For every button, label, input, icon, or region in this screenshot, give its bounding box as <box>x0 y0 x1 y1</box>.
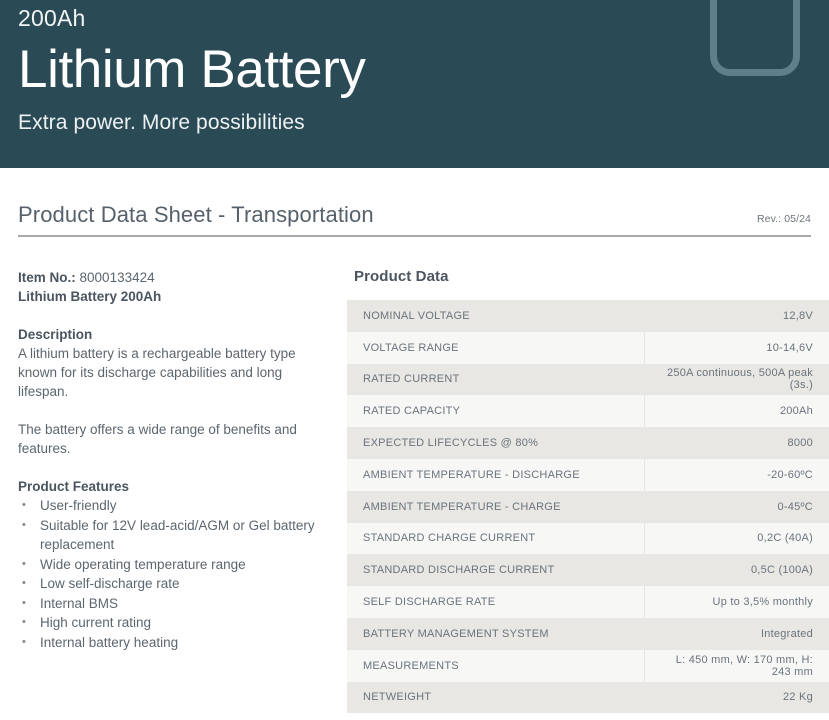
spec-key: SELF DISCHARGE RATE <box>347 586 644 618</box>
spec-value: 200Ah <box>644 395 829 427</box>
description-paragraph-2: The battery offers a wide range of benef… <box>18 420 328 458</box>
item-number-value: 8000133424 <box>80 270 155 285</box>
list-item: Internal BMS <box>18 594 328 614</box>
table-row: EXPECTED LIFECYCLES @ 80%8000 <box>347 427 829 459</box>
table-row: AMBIENT TEMPERATURE - CHARGE0-45ºC <box>347 491 829 523</box>
product-data-table: NOMINAL VOLTAGE12,8V VOLTAGE RANGE10-14,… <box>347 300 829 713</box>
features-heading: Product Features <box>18 477 328 496</box>
spec-key: VOLTAGE RANGE <box>347 332 644 364</box>
table-row: STANDARD DISCHARGE CURRENT0,5C (100A) <box>347 554 829 586</box>
product-name: Lithium Battery 200Ah <box>18 287 328 306</box>
spec-value: 22 Kg <box>644 682 829 714</box>
list-item: Suitable for 12V lead-acid/AGM or Gel ba… <box>18 516 328 555</box>
revision-label: Rev.: 05/24 <box>757 213 811 225</box>
table-row: NOMINAL VOLTAGE12,8V <box>347 300 829 332</box>
spec-key: EXPECTED LIFECYCLES @ 80% <box>347 427 644 459</box>
spec-value: Integrated <box>644 618 829 650</box>
list-item: User-friendly <box>18 496 328 516</box>
spec-key: BATTERY MANAGEMENT SYSTEM <box>347 618 644 650</box>
spec-key: AMBIENT TEMPERATURE - DISCHARGE <box>347 459 644 491</box>
table-row: STANDARD CHARGE CURRENT0,2C (40A) <box>347 523 829 555</box>
product-features-list: User-friendly Suitable for 12V lead-acid… <box>18 496 328 652</box>
table-row: SELF DISCHARGE RATEUp to 3,5% monthly <box>347 586 829 618</box>
spacer <box>18 306 328 325</box>
spec-key: STANDARD CHARGE CURRENT <box>347 523 644 555</box>
item-number-label: Item No.: <box>18 270 76 285</box>
spec-key: NETWEIGHT <box>347 682 644 714</box>
spec-value: Up to 3,5% monthly <box>644 586 829 618</box>
table-row: BATTERY MANAGEMENT SYSTEMIntegrated <box>347 618 829 650</box>
spec-value: 0,5C (100A) <box>644 554 829 586</box>
hero-text-block: 200Ah Lithium Battery Extra power. More … <box>18 0 365 137</box>
list-item: Low self-discharge rate <box>18 574 328 594</box>
table-row: AMBIENT TEMPERATURE - DISCHARGE-20-60ºC <box>347 459 829 491</box>
spec-value: 10-14,6V <box>644 332 829 364</box>
spec-key: AMBIENT TEMPERATURE - CHARGE <box>347 491 644 523</box>
spec-key: NOMINAL VOLTAGE <box>347 300 644 332</box>
spec-value: -20-60ºC <box>644 459 829 491</box>
spec-value: L: 450 mm, W: 170 mm, H: 243 mm <box>644 650 829 682</box>
spec-key: STANDARD DISCHARGE CURRENT <box>347 554 644 586</box>
description-paragraph-1: A lithium battery is a rechargeable batt… <box>18 344 328 401</box>
list-item: Internal battery heating <box>18 633 328 653</box>
table-row: RATED CURRENT250A continuous, 500A peak … <box>347 364 829 396</box>
spec-value: 8000 <box>644 427 829 459</box>
description-heading: Description <box>18 325 328 344</box>
table-row: MEASUREMENTSL: 450 mm, W: 170 mm, H: 243… <box>347 650 829 682</box>
product-data-heading: Product Data <box>354 268 829 285</box>
spec-value: 0-45ºC <box>644 491 829 523</box>
hero-tagline: Extra power. More possibilities <box>18 109 365 137</box>
spacer <box>18 458 328 477</box>
table-row: VOLTAGE RANGE10-14,6V <box>347 332 829 364</box>
product-data-column: Product Data NOMINAL VOLTAGE12,8V VOLTAG… <box>347 268 829 713</box>
list-item: High current rating <box>18 613 328 633</box>
product-data-table-body: NOMINAL VOLTAGE12,8V VOLTAGE RANGE10-14,… <box>347 300 829 713</box>
battery-outline-icon <box>710 0 800 76</box>
title-divider <box>18 235 811 237</box>
hero-banner: 200Ah Lithium Battery Extra power. More … <box>0 0 829 168</box>
sheet-title-row: Product Data Sheet - Transportation Rev.… <box>18 202 811 228</box>
table-row: RATED CAPACITY200Ah <box>347 395 829 427</box>
left-info-column: Item No.: 8000133424 Lithium Battery 200… <box>18 268 328 652</box>
item-number-line: Item No.: 8000133424 <box>18 268 328 287</box>
table-row: NETWEIGHT22 Kg <box>347 682 829 714</box>
spec-value: 0,2C (40A) <box>644 523 829 555</box>
spec-key: RATED CAPACITY <box>347 395 644 427</box>
hero-capacity-eyebrow: 200Ah <box>18 3 365 33</box>
page-title: Product Data Sheet - Transportation <box>18 202 374 228</box>
list-item: Wide operating temperature range <box>18 555 328 575</box>
spec-key: MEASUREMENTS <box>347 650 644 682</box>
spec-value: 12,8V <box>644 300 829 332</box>
hero-product-title: Lithium Battery <box>18 40 365 100</box>
spec-key: RATED CURRENT <box>347 364 644 396</box>
spacer <box>18 401 328 420</box>
spec-value: 250A continuous, 500A peak (3s.) <box>644 364 829 396</box>
